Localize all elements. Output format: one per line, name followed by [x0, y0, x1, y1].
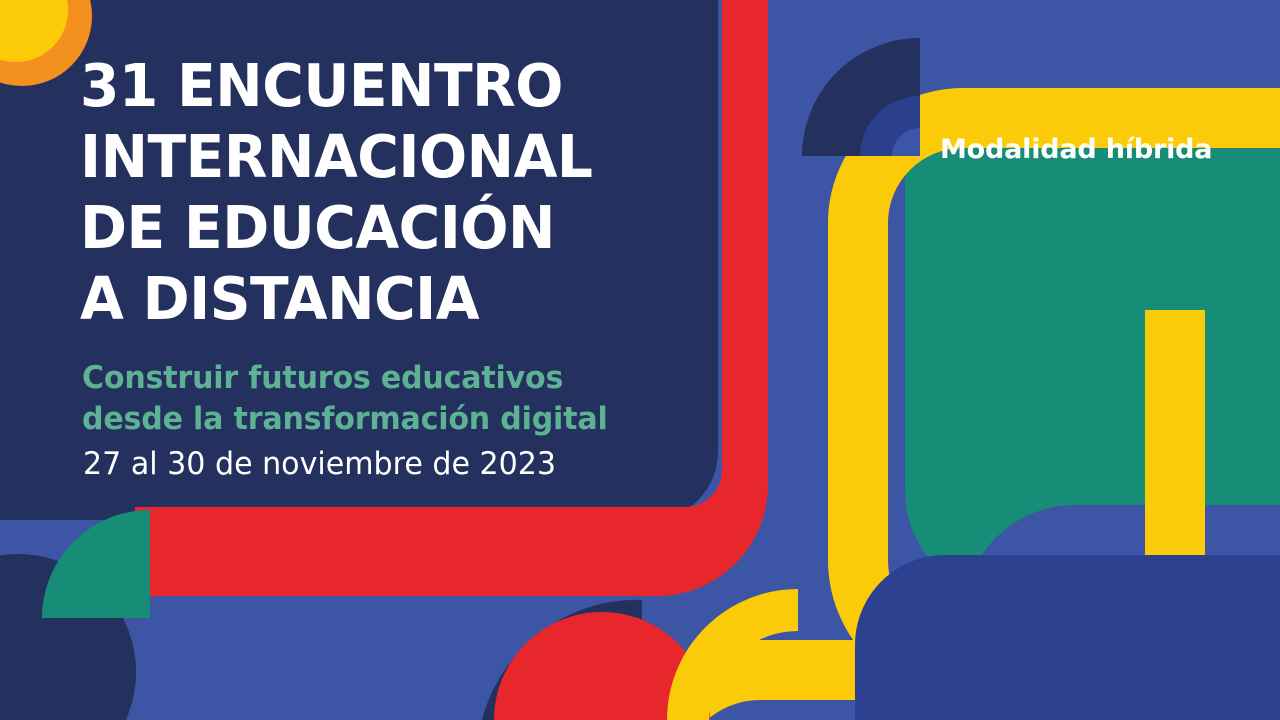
deep-blue-rounded-rect-lower — [855, 555, 1280, 720]
decorative-artwork — [0, 0, 1280, 720]
title-navy-panel — [0, 0, 718, 520]
poster-canvas: 31 ENCUENTRO INTERNACIONAL DE EDUCACIÓN … — [0, 0, 1280, 720]
